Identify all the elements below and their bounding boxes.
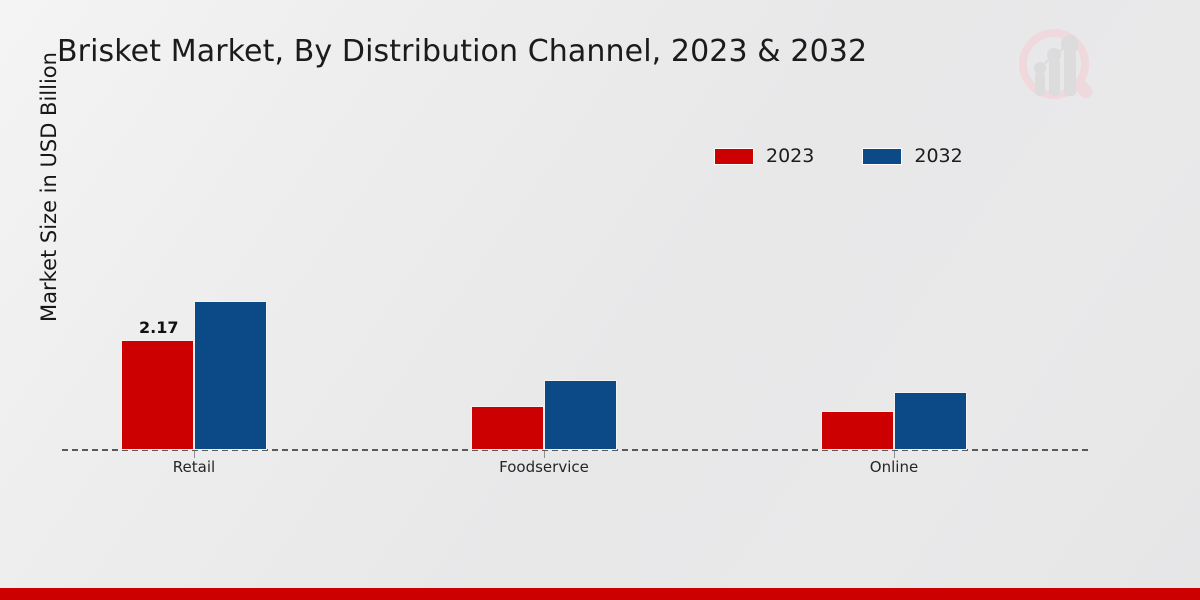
- axis-tick-online: [894, 451, 895, 458]
- axis-tick-foodservice: [544, 451, 545, 458]
- category-label-foodservice: Foodservice: [499, 458, 589, 476]
- footer-accent-bar: [0, 588, 1200, 600]
- bar-online-2023[interactable]: [821, 411, 894, 450]
- bar-foodservice-2023[interactable]: [471, 406, 544, 450]
- axis-tick-retail: [194, 451, 195, 458]
- bar-value-label-retail-2023: 2.17: [139, 318, 178, 337]
- plot-area: 2.17RetailFoodserviceOnline: [0, 0, 1200, 600]
- chart-canvas: Brisket Market, By Distribution Channel,…: [0, 0, 1200, 600]
- bar-online-2032[interactable]: [894, 392, 967, 450]
- bar-retail-2023[interactable]: [121, 340, 194, 450]
- category-label-retail: Retail: [173, 458, 215, 476]
- bar-foodservice-2032[interactable]: [544, 380, 617, 450]
- bar-retail-2032[interactable]: [194, 301, 267, 450]
- category-label-online: Online: [870, 458, 918, 476]
